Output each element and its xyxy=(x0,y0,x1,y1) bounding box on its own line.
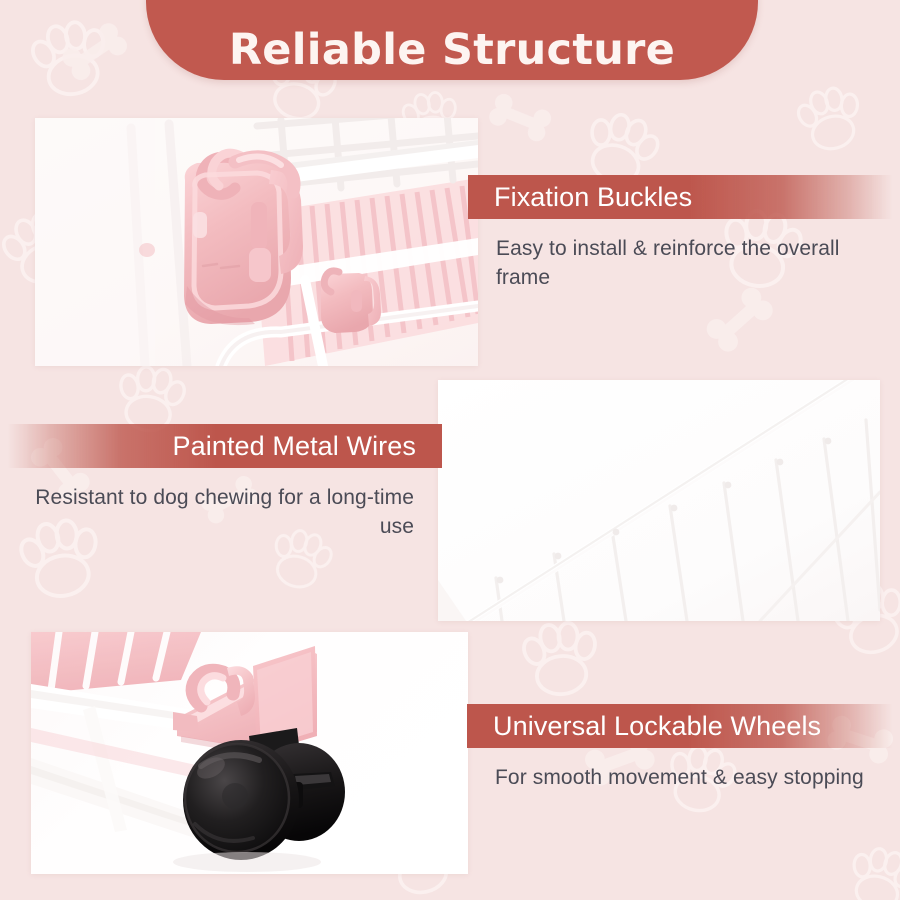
photo-painted-metal-wires-image xyxy=(438,380,880,621)
photo-fixation-buckle-image xyxy=(35,118,478,366)
feature-title-fixation-buckles: Fixation Buckles xyxy=(494,184,692,211)
page-title: Reliable Structure xyxy=(229,29,675,72)
feature-title-band-fixation-buckles: Fixation Buckles xyxy=(468,175,892,219)
feature-title-painted-metal-wires: Painted Metal Wires xyxy=(173,433,417,460)
photo-fixation-buckle xyxy=(35,118,478,366)
feature-block-fixation-buckles: Fixation Buckles Easy to install & reinf… xyxy=(468,175,892,293)
feature-title-band-universal-lockable-wheels: Universal Lockable Wheels xyxy=(467,704,892,748)
photo-lockable-wheels-image xyxy=(31,632,468,874)
feature-description-fixation-buckles: Easy to install & reinforce the overall … xyxy=(468,235,892,293)
photo-painted-metal-wires xyxy=(438,380,880,621)
feature-description-universal-lockable-wheels: For smooth movement & easy stopping xyxy=(467,764,892,793)
feature-description-painted-metal-wires: Resistant to dog chewing for a long-time… xyxy=(8,484,442,542)
photo-lockable-wheels xyxy=(31,632,468,874)
infographic-page: Reliable Structure xyxy=(0,0,900,900)
feature-title-universal-lockable-wheels: Universal Lockable Wheels xyxy=(493,713,821,740)
feature-block-universal-lockable-wheels: Universal Lockable Wheels For smooth mov… xyxy=(467,704,892,793)
feature-block-painted-metal-wires: Painted Metal Wires Resistant to dog che… xyxy=(8,424,442,542)
feature-title-band-painted-metal-wires: Painted Metal Wires xyxy=(8,424,442,468)
header-banner: Reliable Structure xyxy=(146,0,758,80)
